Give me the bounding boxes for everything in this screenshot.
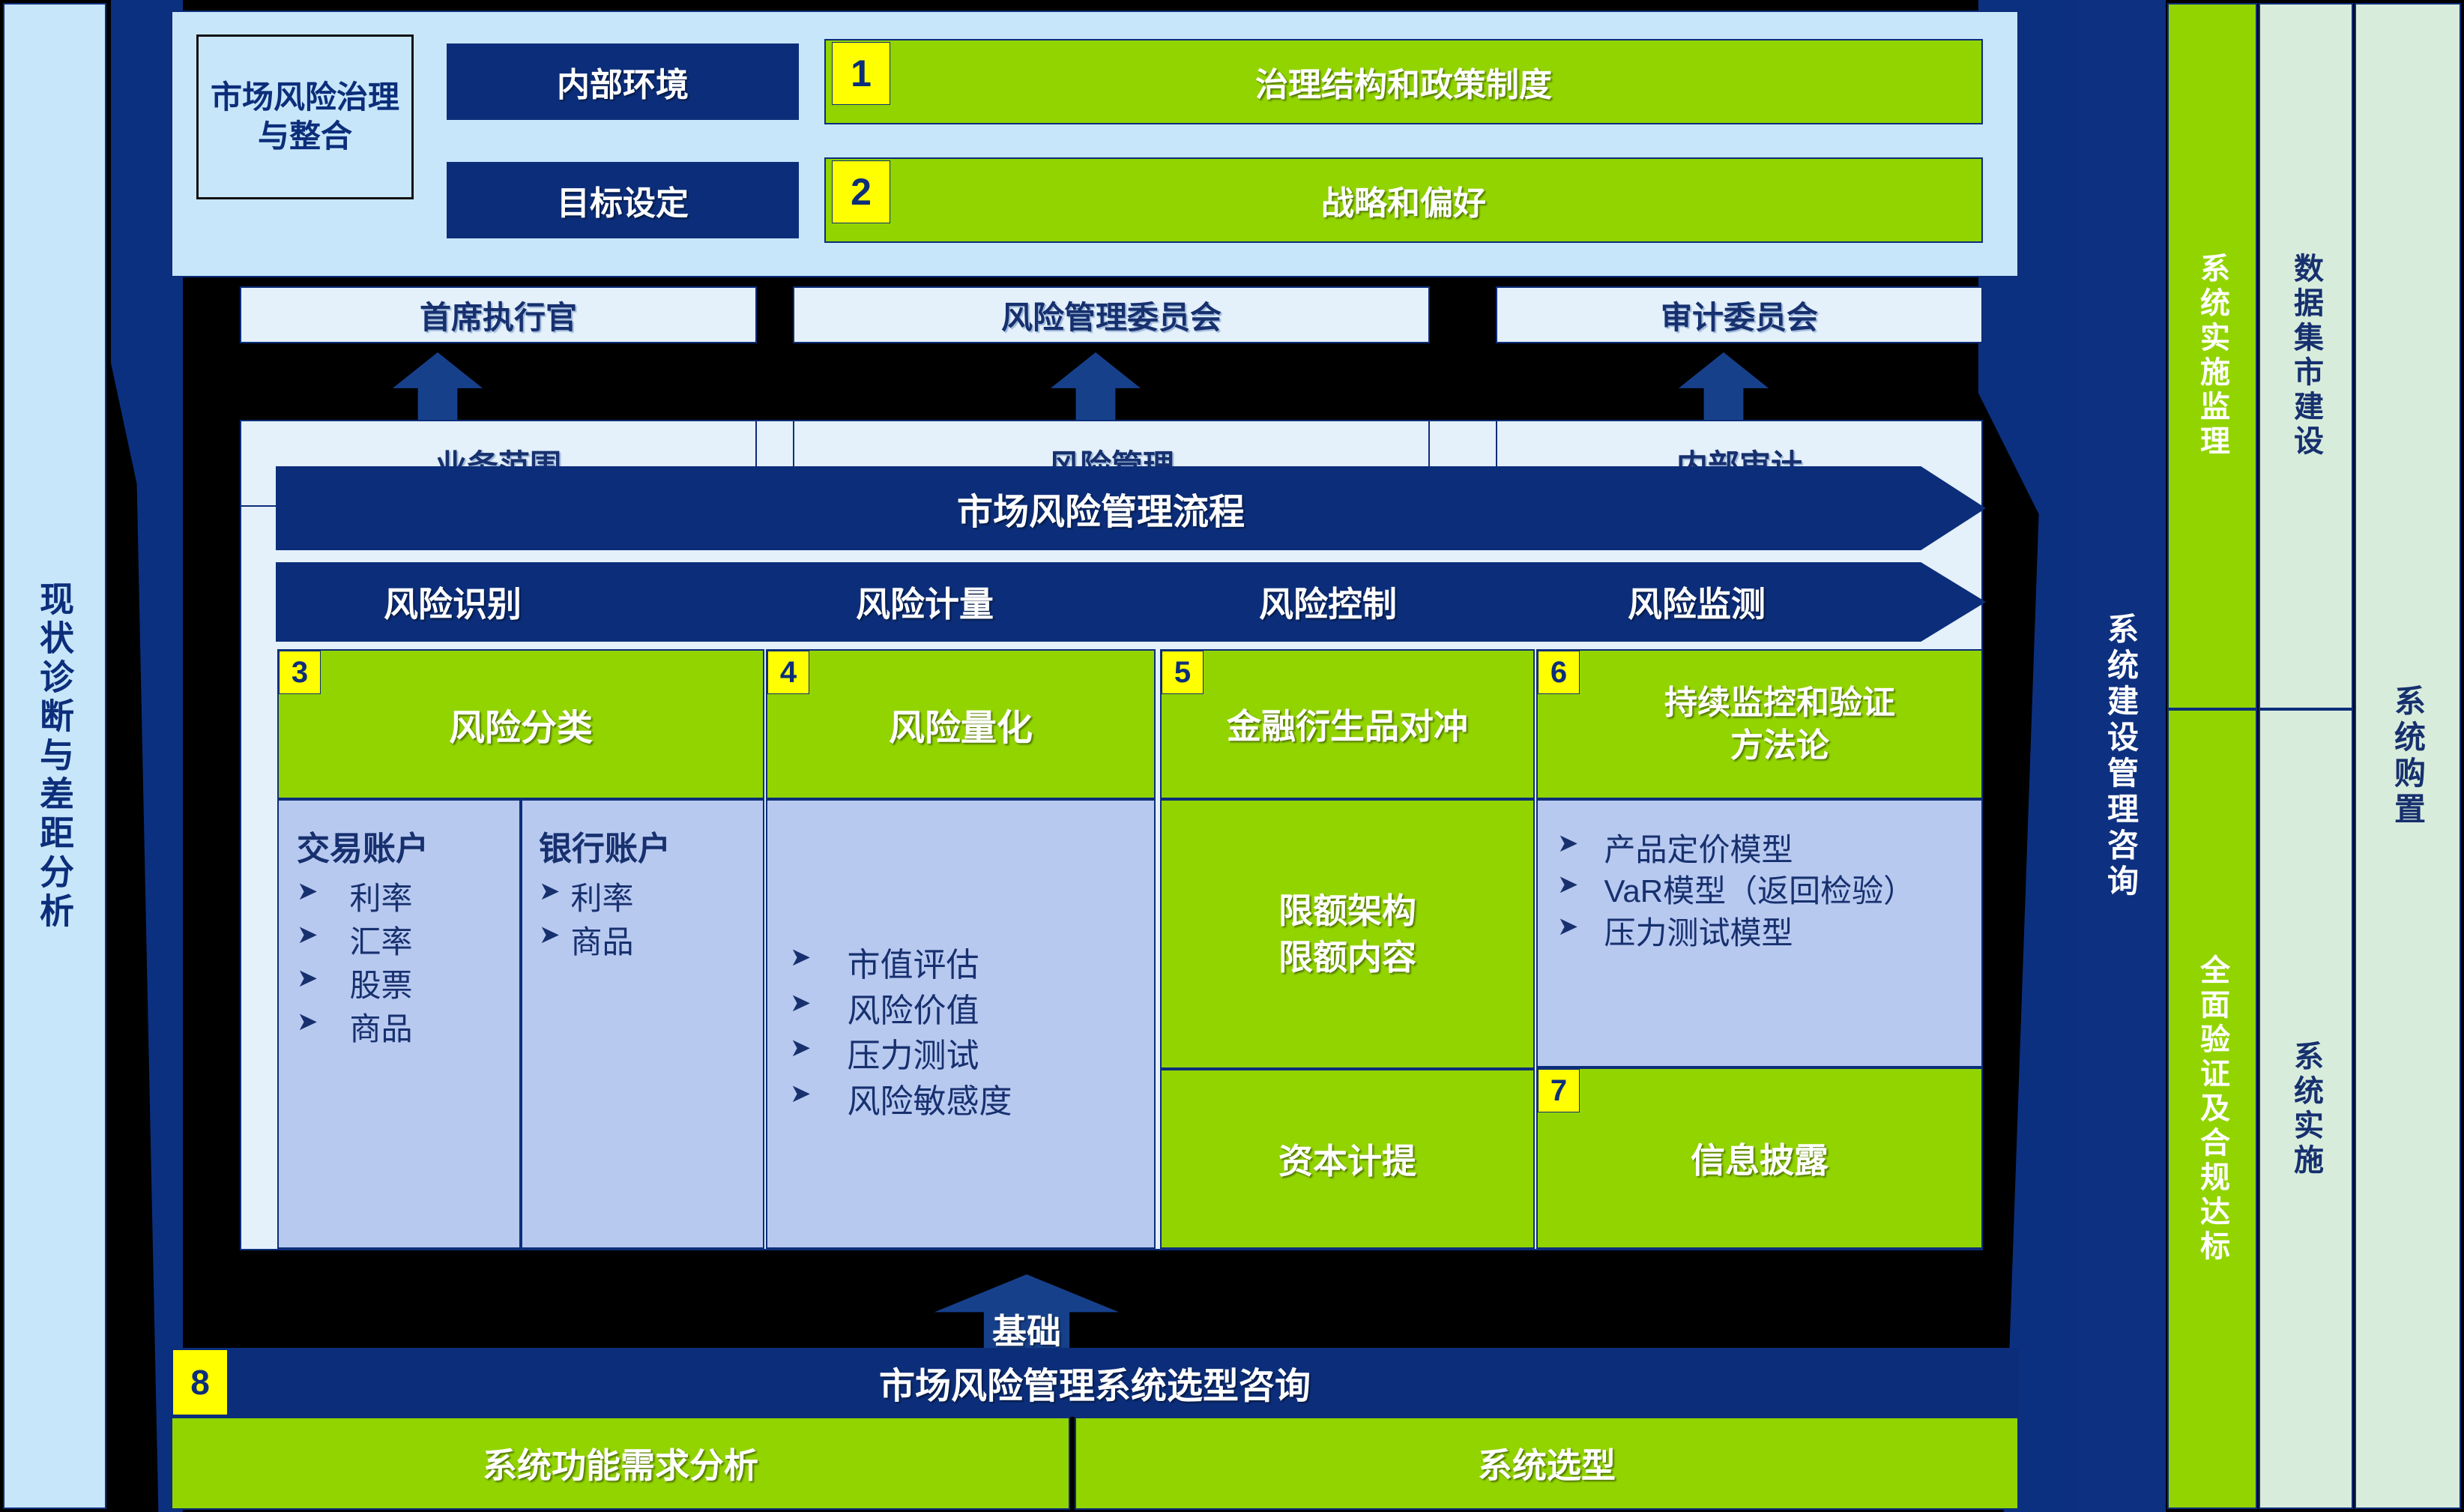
step-badge-4: 4 (767, 651, 809, 694)
col4-header[interactable]: 风险量化 (766, 649, 1156, 799)
arrow-bullet-icon: ➤ (790, 945, 812, 970)
col6-header-label: 持续监控和验证 方法论 (1664, 681, 1895, 767)
process-step-identify[interactable]: 风险识别 (285, 562, 620, 642)
right-rail-validation-compliance[interactable]: 全面验证及合规达标 (2167, 709, 2257, 1509)
strategy-preference-bar[interactable]: 战略和偏好 (824, 157, 1983, 243)
list-item: ➤商品 (539, 921, 755, 964)
col5-header[interactable]: 金融衍生品对冲 (1160, 649, 1535, 799)
internal-environment-label[interactable]: 内部环境 (447, 43, 799, 120)
step-badge-6-number: 6 (1550, 656, 1567, 690)
step-badge-7-number: 7 (1550, 1074, 1567, 1108)
up-arrow-ceo-icon (393, 352, 483, 421)
list-item: ➤利率 (539, 877, 755, 921)
up-arrow-risk-icon (1051, 352, 1141, 421)
col4-quant-list: ➤市值评估 ➤风险价值 ➤压力测试 ➤风险敏感度 (790, 943, 1147, 1125)
process-step-measure[interactable]: 风险计量 (757, 562, 1093, 642)
foundation-tile-selection[interactable]: 系统选型 (1075, 1417, 2019, 1510)
step-badge-8-number: 8 (190, 1362, 210, 1403)
list-item: ➤利率 (297, 877, 512, 921)
arrow-bullet-icon: ➤ (297, 879, 318, 904)
list-item: ➤压力测试模型 (1557, 912, 1969, 954)
left-sidebar-label: 现状诊断与差距分析 (30, 581, 79, 932)
col5-capital-box[interactable]: 资本计提 (1160, 1069, 1535, 1249)
org-header-risk-committee-label: 风险管理委员会 (1001, 292, 1222, 338)
col3-trading-account-panel[interactable]: 交易账户 ➤利率 ➤汇率 ➤股票 ➤商品 (277, 799, 521, 1249)
list-item: ➤市值评估 (790, 943, 1147, 989)
col3-trading-account-title: 交易账户 (297, 822, 512, 870)
right-rail-system-purchase[interactable]: 系统购置 (2355, 3, 2461, 1509)
step-badge-1-number: 1 (851, 52, 872, 95)
step-badge-6: 6 (1538, 651, 1580, 694)
col3-header[interactable]: 风险分类 (277, 649, 764, 799)
col3-banking-account-title: 银行账户 (539, 822, 755, 870)
list-item: ➤汇率 (297, 921, 512, 964)
arrow-bullet-icon: ➤ (297, 966, 318, 991)
list-item: ➤VaR模型（返回检验） (1557, 870, 1969, 912)
org-header-ceo-label: 首席执行官 (420, 292, 577, 338)
process-step-identify-label: 风险识别 (384, 577, 522, 627)
list-item: ➤产品定价模型 (1557, 829, 1969, 870)
step-badge-7: 7 (1538, 1069, 1580, 1112)
step-badge-3: 3 (279, 651, 321, 694)
col4-header-label: 风险量化 (889, 698, 1033, 750)
process-step-monitor[interactable]: 风险监测 (1529, 562, 1864, 642)
arrow-bullet-icon: ➤ (790, 990, 812, 1016)
step-badge-4-number: 4 (780, 656, 797, 690)
right-rail-consulting[interactable]: 系统建设管理咨询 (2076, 0, 2166, 1512)
right-rail-system-purchase-label: 系统购置 (2385, 684, 2431, 828)
step-badge-2: 2 (832, 160, 890, 223)
col6-models-panel[interactable]: ➤产品定价模型 ➤VaR模型（返回检验） ➤压力测试模型 (1536, 799, 1983, 1067)
right-rail-datamart[interactable]: 数据集市建设 (2259, 3, 2353, 709)
org-header-ceo[interactable]: 首席执行官 (240, 286, 757, 343)
org-header-risk-committee[interactable]: 风险管理委员会 (793, 286, 1430, 343)
objective-setting-text: 目标设定 (557, 176, 689, 224)
arrow-bullet-icon: ➤ (539, 879, 561, 904)
col5-limit-framework-label: 限额架构 限额内容 (1278, 888, 1416, 981)
governance-structure-bar[interactable]: 治理结构和政策制度 (824, 39, 1983, 124)
col6-models-list: ➤产品定价模型 ➤VaR模型（返回检验） ➤压力测试模型 (1557, 829, 1969, 954)
list-item: ➤风险价值 (790, 989, 1147, 1034)
governance-structure-text: 治理结构和政策制度 (1255, 58, 1552, 106)
col3-banking-account-list: ➤利率 ➤商品 (539, 877, 755, 964)
step-badge-5-number: 5 (1174, 656, 1191, 690)
objective-setting-label[interactable]: 目标设定 (447, 162, 799, 238)
col5-capital-label: 资本计提 (1278, 1134, 1416, 1184)
col5-limit-framework-box[interactable]: 限额架构 限额内容 (1160, 799, 1535, 1069)
governance-title-box: 市场风险治理与整合 (196, 34, 414, 199)
right-rail-system-implementation[interactable]: 系统实施 (2259, 709, 2353, 1509)
col6-header[interactable]: 持续监控和验证 方法论 (1536, 649, 1983, 799)
list-item: ➤风险敏感度 (790, 1079, 1147, 1125)
list-item: ➤商品 (297, 1008, 512, 1051)
right-rail-implementation-supervision-label: 系统实施监理 (2190, 253, 2234, 460)
governance-title: 市场风险治理与整合 (205, 78, 405, 157)
right-rail-system-implementation-label: 系统实施 (2284, 1040, 2328, 1178)
list-item: ➤股票 (297, 964, 512, 1008)
strategy-preference-text: 战略和偏好 (1321, 176, 1486, 224)
foundation-tile-requirements-label: 系统功能需求分析 (483, 1439, 758, 1488)
arrow-bullet-icon: ➤ (1557, 914, 1579, 939)
step-badge-1: 1 (832, 42, 890, 105)
right-rail-consulting-label: 系统建设管理咨询 (2098, 612, 2144, 900)
process-banner-label: 市场风险管理流程 (957, 482, 1245, 534)
arrow-bullet-icon: ➤ (1557, 872, 1579, 897)
step-badge-5: 5 (1162, 651, 1204, 694)
org-header-audit-committee-label: 审计委员会 (1661, 292, 1818, 338)
col5-header-label: 金融衍生品对冲 (1227, 699, 1468, 749)
foundation-tile-requirements[interactable]: 系统功能需求分析 (171, 1417, 1070, 1510)
left-sidebar-current-state[interactable]: 现状诊断与差距分析 (3, 3, 106, 1509)
step-badge-8: 8 (172, 1349, 228, 1415)
foundation-banner-label: 市场风险管理系统选型咨询 (879, 1356, 1311, 1409)
step-badge-3-number: 3 (292, 656, 308, 690)
arrow-bullet-icon: ➤ (539, 922, 561, 948)
foundation-banner[interactable]: 市场风险管理系统选型咨询 (171, 1348, 2019, 1417)
process-banner[interactable]: 市场风险管理流程 (276, 466, 1986, 550)
col3-banking-account-panel[interactable]: 银行账户 ➤利率 ➤商品 (521, 799, 764, 1249)
process-step-control[interactable]: 风险控制 (1160, 562, 1496, 642)
col7-disclosure-box[interactable]: 信息披露 (1536, 1067, 1983, 1249)
arrow-bullet-icon: ➤ (790, 1081, 812, 1106)
process-step-measure-label: 风险计量 (856, 577, 994, 627)
right-rail-implementation-supervision[interactable]: 系统实施监理 (2167, 3, 2257, 709)
list-item: ➤压力测试 (790, 1034, 1147, 1079)
internal-environment-text: 内部环境 (557, 58, 689, 106)
col4-quant-list-panel[interactable]: ➤市值评估 ➤风险价值 ➤压力测试 ➤风险敏感度 (766, 799, 1156, 1249)
col7-disclosure-label: 信息披露 (1691, 1133, 1829, 1183)
right-rail-validation-compliance-label: 全面验证及合规达标 (2190, 954, 2234, 1265)
foundation-arrow-label: 基础 (992, 1304, 1061, 1354)
arrow-bullet-icon: ➤ (790, 1035, 812, 1061)
step-badge-2-number: 2 (851, 170, 872, 214)
process-step-control-label: 风险控制 (1259, 577, 1397, 627)
process-step-monitor-label: 风险监测 (1628, 577, 1766, 627)
col3-header-label: 风险分类 (449, 698, 593, 750)
foundation-tile-selection-label: 系统选型 (1478, 1439, 1616, 1488)
arrow-bullet-icon: ➤ (1557, 831, 1579, 856)
arrow-bullet-icon: ➤ (297, 922, 318, 948)
org-header-audit-committee[interactable]: 审计委员会 (1496, 286, 1983, 343)
arrow-bullet-icon: ➤ (297, 1009, 318, 1034)
right-rail-datamart-label: 数据集市建设 (2284, 253, 2328, 460)
up-arrow-audit-icon (1679, 352, 1769, 421)
col3-trading-account-list: ➤利率 ➤汇率 ➤股票 ➤商品 (297, 877, 512, 1051)
